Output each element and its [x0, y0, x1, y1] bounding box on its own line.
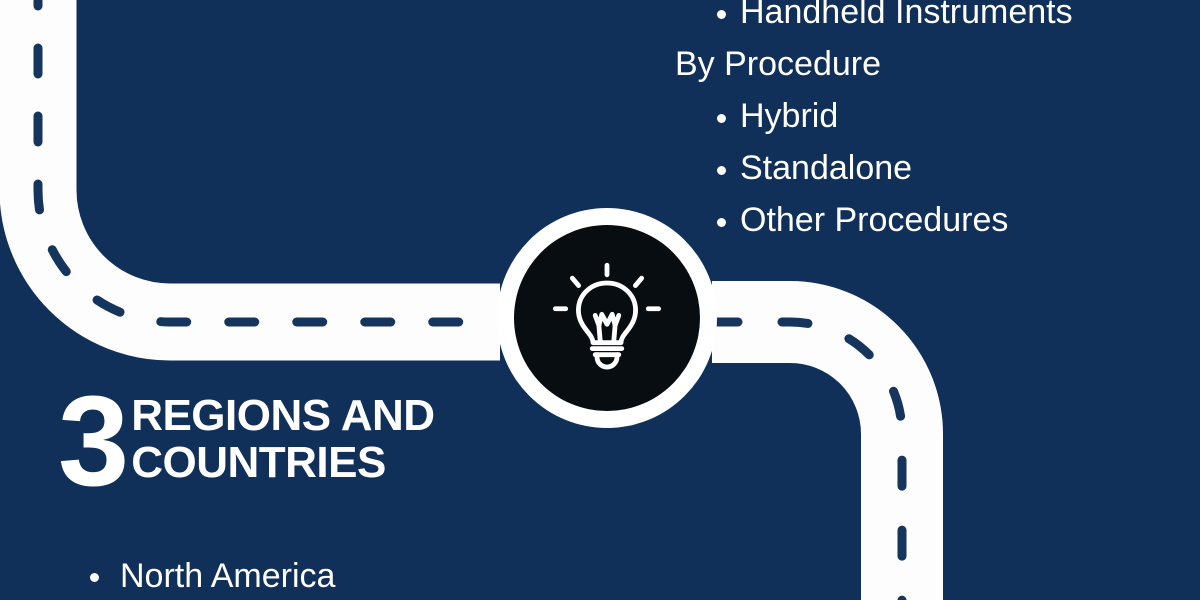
instrument-bullet-list: Handheld Instruments: [675, 0, 1175, 38]
list-item-standalone: Standalone: [675, 142, 1175, 194]
emblem-disc: [514, 225, 700, 411]
road-right-path: [712, 322, 902, 600]
stat-number: 3: [58, 388, 127, 496]
infographic-canvas: Handheld Instruments By Procedure Hybrid…: [0, 0, 1200, 600]
list-item-hybrid: Hybrid: [675, 90, 1175, 142]
road-right-centerline: [712, 322, 902, 600]
road-left-centerline: [38, 0, 500, 322]
list-item-north-america: North America: [58, 551, 538, 600]
stat-title: REGIONS AND COUNTRIES: [131, 392, 491, 486]
list-item-handheld-instruments: Handheld Instruments: [675, 0, 1175, 38]
section-heading-by-procedure: By Procedure: [675, 38, 1175, 90]
road-left-path: [38, 0, 500, 322]
segmentation-panel: Handheld Instruments By Procedure Hybrid…: [675, 0, 1175, 246]
regions-panel: North America: [58, 551, 538, 600]
region-bullet-list: North America: [58, 551, 538, 600]
procedure-bullet-list: Hybrid Standalone Other Procedures: [675, 90, 1175, 246]
lightbulb-icon: [548, 259, 666, 377]
regions-stat-block: 3 REGIONS AND COUNTRIES: [58, 388, 491, 496]
list-item-other-procedures: Other Procedures: [675, 194, 1175, 246]
